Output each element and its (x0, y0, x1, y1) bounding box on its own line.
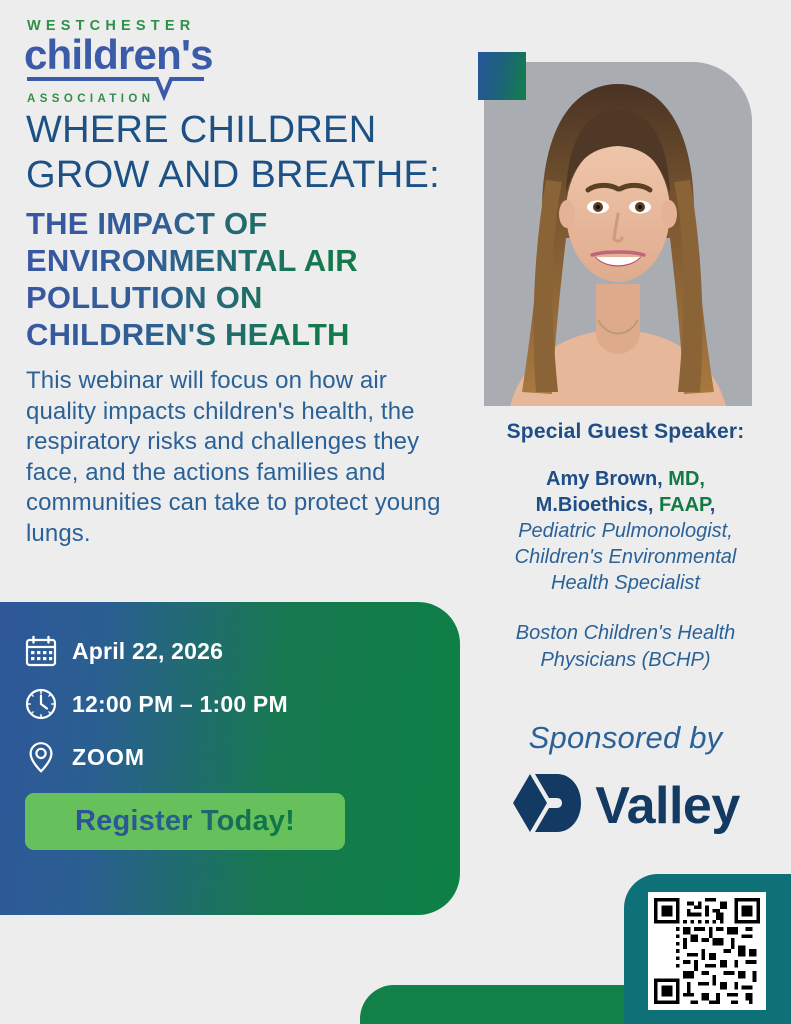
logo-speech-bubble-rule (24, 76, 224, 102)
sponsored-by-label: Sponsored by (470, 720, 781, 756)
speaker-name-block: Amy Brown, MD, M.Bioethics, FAAP, (470, 466, 781, 518)
subhead-line-4: CHILDREN'S HEALTH (26, 316, 466, 353)
subhead-line-2: ENVIRONMENTAL AIR (26, 242, 466, 279)
event-time: 12:00 PM – 1:00 PM (72, 691, 288, 718)
speaker-info: Special Guest Speaker: Amy Brown, MD, M.… (470, 420, 781, 674)
sponsor-section: Sponsored by Valley (470, 720, 781, 841)
page-title: WHERE CHILDREN GROW AND BREATHE: (26, 108, 466, 198)
logo-line-childrens: children's (24, 33, 254, 77)
valley-logo: Valley (470, 770, 781, 841)
speaker-credential-bioethics: M.Bioethics, (536, 494, 659, 516)
valley-wordmark: Valley (595, 780, 739, 832)
event-details-panel: April 22, 2026 12:00 PM – 1:00 PM (0, 602, 460, 915)
speaker-photo (484, 62, 752, 406)
event-location: ZOOM (72, 744, 145, 771)
speaker-name-comma: , (710, 494, 716, 516)
accent-square-decor (478, 52, 526, 100)
register-button-label: Register Today! (75, 805, 295, 838)
speaker-name: Amy Brown, (546, 468, 668, 490)
event-date: April 22, 2026 (72, 638, 223, 665)
speaker-org-line-1: Boston Children's Health (470, 620, 781, 647)
speaker-org-line-2: Physicians (BCHP) (470, 647, 781, 674)
speaker-role-line-1: Pediatric Pulmonologist, (470, 518, 781, 544)
speaker-organization: Boston Children's Health Physicians (BCH… (470, 620, 781, 674)
headline-line-1: WHERE CHILDREN (26, 108, 466, 153)
speaker-heading: Special Guest Speaker: (470, 420, 781, 444)
event-date-row: April 22, 2026 (24, 634, 440, 668)
subhead-line-3: POLLUTION ON (26, 279, 466, 316)
speaker-role-line-3: Health Specialist (470, 570, 781, 596)
webinar-flyer: WESTCHESTER children's ASSOCIATION WHERE… (0, 0, 791, 1024)
page-subtitle: THE IMPACT OF ENVIRONMENTAL AIR POLLUTIO… (26, 205, 466, 353)
speaker-name-line-1: Amy Brown, MD, (470, 466, 781, 492)
westchester-childrens-association-logo: WESTCHESTER children's ASSOCIATION (24, 18, 254, 105)
speaker-role: Pediatric Pulmonologist, Children's Envi… (470, 518, 781, 596)
register-button[interactable]: Register Today! (25, 793, 345, 850)
calendar-icon (24, 634, 58, 668)
valley-mark-icon (511, 770, 583, 841)
event-time-row: 12:00 PM – 1:00 PM (24, 687, 440, 721)
subhead-line-1: THE IMPACT OF (26, 205, 466, 242)
speaker-credential-md: MD, (668, 468, 705, 490)
description-text: This webinar will focus on how air quali… (26, 366, 456, 549)
speaker-credential-faap: FAAP (659, 494, 710, 516)
speaker-name-line-2: M.Bioethics, FAAP, (470, 492, 781, 518)
headline-line-2: GROW AND BREATHE: (26, 153, 466, 198)
qr-code-icon[interactable] (648, 892, 766, 1010)
event-location-row: ZOOM (24, 740, 440, 774)
location-pin-icon (24, 740, 58, 774)
speaker-role-line-2: Children's Environmental (470, 544, 781, 570)
clock-icon (24, 687, 58, 721)
